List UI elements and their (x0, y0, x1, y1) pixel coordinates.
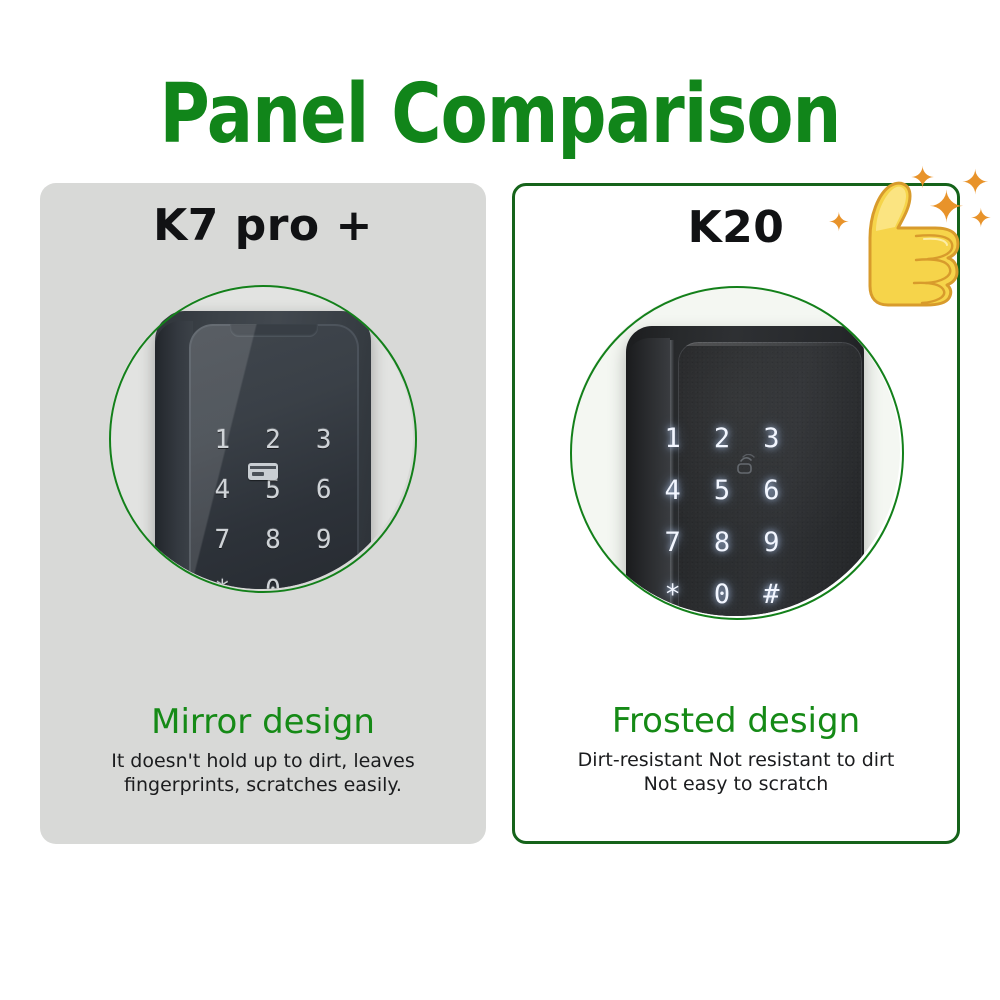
caption-heading-k7: Mirror design (40, 701, 486, 743)
caption-body-k20: Dirt-resistant Not resistant to dirt Not… (515, 748, 957, 796)
comparison-cards: K7 pro + 1 2 3 4 5 6 7 8 9 (0, 183, 1000, 848)
key-7[interactable]: 7 (215, 527, 231, 553)
key-6[interactable]: 6 (316, 477, 332, 503)
card-reader-icon (248, 463, 278, 480)
device-side-face (155, 321, 193, 589)
key-hash[interactable]: # (316, 577, 332, 589)
key-hash[interactable]: # (763, 581, 779, 608)
keypad-k7[interactable]: 1 2 3 4 5 6 7 8 9 * 0 # (197, 415, 349, 589)
key-9[interactable]: 9 (763, 529, 779, 556)
key-8[interactable]: 8 (265, 527, 281, 553)
key-4[interactable]: 4 (215, 477, 231, 503)
key-2[interactable]: 2 (265, 427, 281, 453)
key-1[interactable]: 1 (665, 425, 681, 452)
caption-body-line2: Not easy to scratch (644, 773, 829, 795)
key-6[interactable]: 6 (763, 477, 779, 504)
key-star[interactable]: * (215, 577, 231, 589)
card-title-k20: K20 (515, 199, 957, 257)
card-title-k7: K7 pro + (40, 197, 486, 255)
caption-body-k7: It doesn't hold up to dirt, leaves finge… (40, 749, 486, 797)
product-photo-k7: 1 2 3 4 5 6 7 8 9 * 0 # (109, 285, 413, 589)
device-image-k7: 1 2 3 4 5 6 7 8 9 * 0 # (155, 311, 371, 589)
key-0[interactable]: 0 (714, 581, 730, 608)
key-1[interactable]: 1 (215, 427, 231, 453)
key-2[interactable]: 2 (714, 425, 730, 452)
device-image-k20: 1 2 3 4 5 6 7 8 9 * 0 # (626, 326, 864, 616)
key-star[interactable]: * (665, 581, 681, 608)
key-8[interactable]: 8 (714, 529, 730, 556)
card-k7[interactable]: K7 pro + 1 2 3 4 5 6 7 8 9 (40, 183, 486, 844)
key-5[interactable]: 5 (265, 477, 281, 503)
key-0[interactable]: 0 (265, 577, 281, 589)
key-7[interactable]: 7 (665, 529, 681, 556)
product-photo-k20: 1 2 3 4 5 6 7 8 9 * 0 # (570, 286, 900, 616)
caption-heading-k20: Frosted design (515, 700, 957, 742)
nfc-icon (732, 454, 758, 476)
key-3[interactable]: 3 (316, 427, 332, 453)
key-3[interactable]: 3 (763, 425, 779, 452)
card-k20[interactable]: K20 1 2 3 4 5 6 7 8 (512, 183, 960, 844)
panel-edge-highlight (678, 342, 862, 346)
keypad-k20[interactable]: 1 2 3 4 5 6 7 8 9 * 0 # (648, 412, 796, 616)
key-4[interactable]: 4 (665, 477, 681, 504)
caption-body-line1: Dirt-resistant Not resistant to dirt (578, 749, 895, 771)
page-title: Panel Comparison (35, 69, 965, 161)
key-5[interactable]: 5 (714, 477, 730, 504)
key-9[interactable]: 9 (316, 527, 332, 553)
